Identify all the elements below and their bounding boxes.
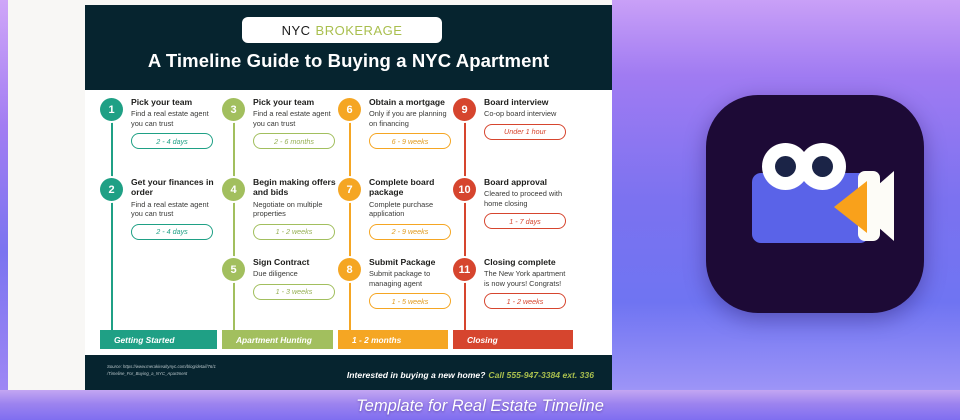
brand-logo-secondary: BROKERAGE [316, 23, 403, 38]
step-text: Complete board package Complete purchase… [369, 177, 455, 240]
step-title: Sign Contract [253, 257, 339, 267]
category-bar-mortgage: 1 - 2 months [338, 330, 448, 349]
timeline-column-apartment-hunting: 3 Pick your team Find a real estate agen… [222, 90, 335, 355]
step-description: Find a real estate agent you can trust [131, 200, 217, 219]
step-text: Closing complete The New York apartment … [484, 257, 570, 309]
step-text: Pick your team Find a real estate agent … [131, 97, 217, 149]
step-duration-pill: 2 - 6 months [253, 133, 335, 149]
category-bar-apartment-hunting: Apartment Hunting [222, 330, 333, 349]
step-description: Co-op board interview [484, 109, 570, 118]
step-description: Only if you are planning on financing [369, 109, 455, 128]
step-title: Pick your team [131, 97, 217, 107]
step-text: Board interview Co-op board interview Un… [484, 97, 570, 140]
step-description: Cleared to proceed with home closing [484, 189, 570, 208]
step-number-badge: 9 [453, 98, 476, 121]
step-duration-pill: Under 1 hour [484, 124, 566, 140]
step-duration-pill: 2 - 4 days [131, 133, 213, 149]
step-text: Sign Contract Due diligence 1 - 3 weeks [253, 257, 339, 300]
brand-logo: NYC BROKERAGE [242, 17, 442, 43]
step-description: Find a real estate agent you can trust [131, 109, 217, 128]
step-description: Negotiate on multiple properties [253, 200, 339, 219]
cta-question: Interested in buying a new home? [347, 370, 485, 380]
timeline-rail [349, 98, 351, 333]
page-title: A Timeline Guide to Buying a NYC Apartme… [85, 50, 612, 72]
timeline-rail [111, 98, 113, 333]
screenshot-stage: NYC BROKERAGE A Timeline Guide to Buying… [0, 0, 960, 420]
step-description: The New York apartment is now yours! Con… [484, 269, 570, 288]
camera-lens-orange-play-shape [834, 181, 867, 233]
step-number-badge: 3 [222, 98, 245, 121]
step-text: Pick your team Find a real estate agent … [253, 97, 339, 149]
step-number-badge: 8 [338, 258, 361, 281]
step-duration-pill: 2 - 4 days [131, 224, 213, 240]
source-line-2: /Timeline_For_Buying_a_NYC_Apartment [107, 371, 307, 378]
step-title: Obtain a mortgage [369, 97, 455, 107]
step-text: Get your finances in order Find a real e… [131, 177, 217, 240]
video-camera-app-icon[interactable] [706, 95, 924, 313]
brand-logo-primary: NYC [282, 23, 311, 38]
step-description: Complete purchase application [369, 200, 455, 219]
step-number-badge: 6 [338, 98, 361, 121]
step-title: Complete board package [369, 177, 455, 198]
step-duration-pill: 1 - 2 weeks [253, 224, 335, 240]
step-duration-pill: 1 - 3 weeks [253, 284, 335, 300]
infographic-header: NYC BROKERAGE A Timeline Guide to Buying… [85, 5, 612, 90]
step-title: Get your finances in order [131, 177, 217, 198]
step-number-badge: 7 [338, 178, 361, 201]
step-description: Submit package to managing agent [369, 269, 455, 288]
step-title: Submit Package [369, 257, 455, 267]
step-description: Due diligence [253, 269, 339, 278]
step-duration-pill: 1 - 5 weeks [369, 293, 451, 309]
source-line-1: Source: https://www.merakirealtynyc.com/… [107, 364, 307, 371]
category-bar-closing: Closing [453, 330, 573, 349]
step-number-badge: 2 [100, 178, 123, 201]
step-number-badge: 4 [222, 178, 245, 201]
step-title: Board interview [484, 97, 570, 107]
step-duration-pill: 2 - 9 weeks [369, 224, 451, 240]
step-number-badge: 10 [453, 178, 476, 201]
source-attribution: Source: https://www.merakirealtynyc.com/… [107, 364, 307, 377]
timeline-column-getting-started: 1 Pick your team Find a real estate agen… [100, 90, 213, 355]
step-text: Obtain a mortgage Only if you are planni… [369, 97, 455, 149]
cta-phone[interactable]: Call 555-947-3384 ext. 336 [488, 370, 594, 380]
step-title: Closing complete [484, 257, 570, 267]
step-duration-pill: 1 - 7 days [484, 213, 566, 229]
step-duration-pill: 6 - 9 weeks [369, 133, 451, 149]
step-duration-pill: 1 - 2 weeks [484, 293, 566, 309]
timeline-rail [233, 98, 235, 333]
timeline-body: 1 Pick your team Find a real estate agen… [85, 90, 612, 355]
step-number-badge: 5 [222, 258, 245, 281]
step-text: Begin making offers and bids Negotiate o… [253, 177, 339, 240]
step-number-badge: 1 [100, 98, 123, 121]
timeline-column-closing: 9 Board interview Co-op board interview … [453, 90, 566, 355]
step-description: Find a real estate agent you can trust [253, 109, 339, 128]
step-text: Submit Package Submit package to managin… [369, 257, 455, 309]
timeline-column-mortgage: 6 Obtain a mortgage Only if you are plan… [338, 90, 451, 355]
caption-text: Template for Real Estate Timeline [0, 392, 960, 420]
footer-cta: Interested in buying a new home?Call 555… [347, 370, 594, 380]
category-bars: Getting Started Apartment Hunting 1 - 2 … [85, 330, 612, 352]
step-title: Board approval [484, 177, 570, 187]
step-title: Begin making offers and bids [253, 177, 339, 198]
step-number-badge: 11 [453, 258, 476, 281]
step-title: Pick your team [253, 97, 339, 107]
category-bar-getting-started: Getting Started [100, 330, 217, 349]
step-text: Board approval Cleared to proceed with h… [484, 177, 570, 229]
timeline-rail [464, 98, 466, 333]
